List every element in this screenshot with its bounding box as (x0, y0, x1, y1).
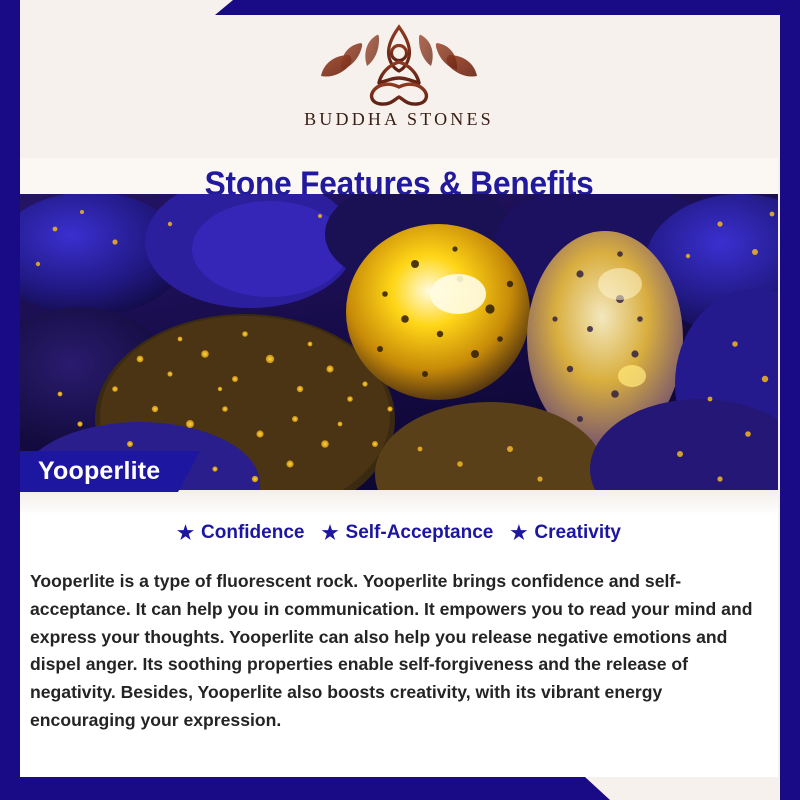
brand-name: BUDDHA STONES (304, 109, 494, 130)
stone-name-label: Yooperlite (38, 457, 160, 486)
star-icon: ★ (510, 524, 527, 543)
benefit-keywords: ★ Confidence ★ Self-Acceptance ★ Creativ… (20, 522, 778, 544)
card-content: ★ Confidence ★ Self-Acceptance ★ Creativ… (20, 490, 778, 777)
benefit-keyword-1: ★ Self-Acceptance (321, 522, 493, 544)
benefit-keyword-2: ★ Creativity (510, 522, 621, 544)
stone-info-card: BUDDHA STONES Stone Features & Benefits (0, 0, 800, 800)
right-border-accent (780, 0, 800, 800)
card-header: BUDDHA STONES Stone Features & Benefits (20, 15, 778, 195)
stone-name-tag: Yooperlite (20, 451, 200, 492)
stone-photo-illustration (20, 194, 778, 490)
left-border-accent (0, 0, 20, 800)
lotus-meditation-logo-icon (309, 21, 489, 107)
star-icon: ★ (177, 524, 194, 543)
benefit-keyword-label: Self-Acceptance (346, 522, 494, 544)
content-top-fade (20, 490, 778, 516)
bottom-border-accent (0, 777, 610, 800)
top-border-accent (215, 0, 800, 15)
benefit-keyword-label: Confidence (201, 522, 304, 544)
stone-photo (20, 194, 778, 490)
brand-logo: BUDDHA STONES (304, 21, 494, 130)
stone-description: Yooperlite is a type of fluorescent rock… (30, 568, 770, 735)
benefit-keyword-0: ★ Confidence (177, 522, 305, 544)
benefit-keyword-label: Creativity (534, 522, 621, 544)
star-icon: ★ (321, 524, 338, 543)
